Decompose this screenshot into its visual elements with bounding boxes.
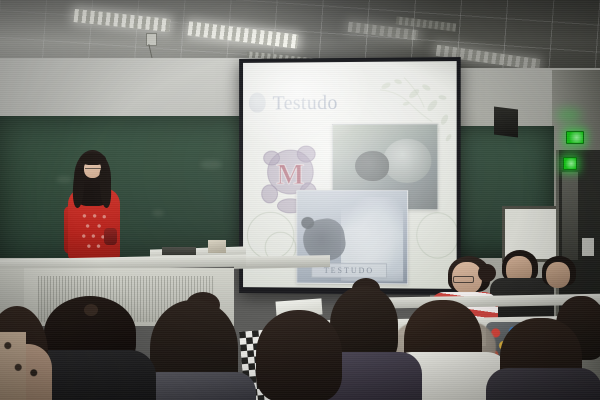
striped-top-person-bun (478, 264, 496, 282)
projector-hotspot (243, 61, 372, 152)
door-notice (582, 238, 594, 256)
laptop-on-desk[interactable] (162, 247, 196, 255)
projection-screen: Testudo M (243, 61, 457, 289)
door-glass-panel (562, 172, 578, 260)
wall-speaker-icon (494, 107, 518, 138)
exit-sign-door-icon (563, 157, 577, 170)
lecture-hall-photo: Testudo M (0, 0, 600, 400)
hair-crown (84, 304, 98, 316)
front-desk-right-section (234, 255, 330, 269)
far-right-person-head (546, 262, 570, 288)
edge-person-garment (0, 332, 26, 400)
exit-sign-wall-icon (566, 131, 584, 144)
dark-coat-person-coat (486, 368, 600, 400)
exit-sign-face (564, 158, 576, 169)
presenter-bag (104, 228, 117, 245)
audience-glasses-icon (453, 276, 474, 283)
exit-sign-glow (556, 108, 582, 122)
exit-sign-face (567, 132, 583, 143)
checkered-scarf-person-hair (256, 310, 342, 400)
presenter-bangs (80, 153, 106, 165)
chalk-smudge (200, 160, 222, 169)
chalk-smudge (56, 176, 72, 183)
box-on-desk (208, 240, 226, 253)
chalk-smudge (152, 210, 164, 216)
